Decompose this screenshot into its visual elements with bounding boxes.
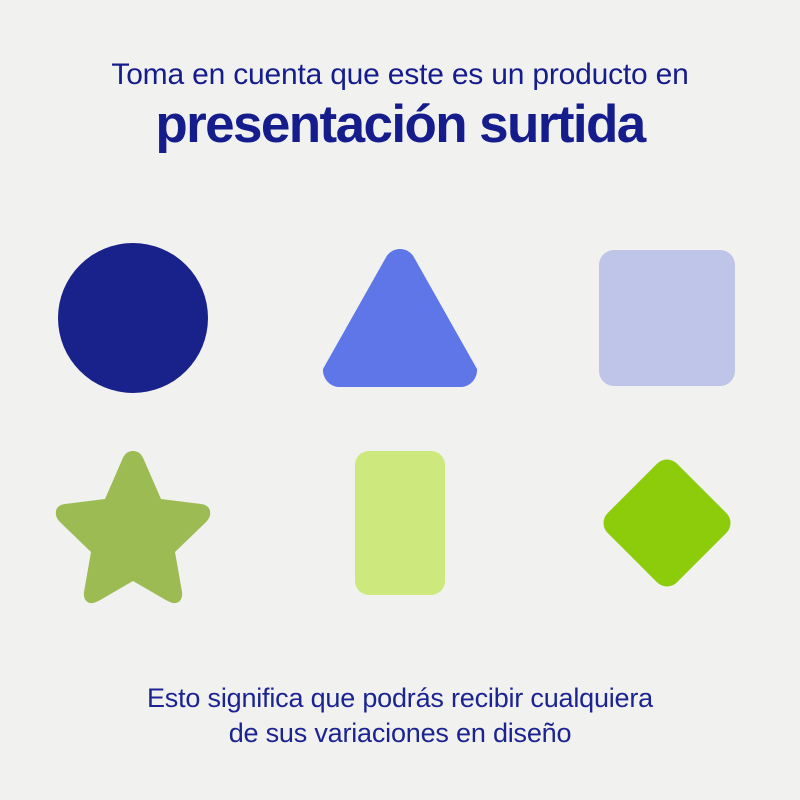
footer-caption: Esto significa que podrás recibir cualqu…: [0, 681, 800, 752]
shape-cell-diamond: [533, 420, 800, 625]
square-shape-icon: [599, 250, 735, 386]
headline-line-1: Toma en cuenta que este es un producto e…: [0, 58, 800, 92]
shape-cell-star: [0, 420, 267, 625]
diamond-shape-icon: [589, 445, 745, 601]
shapes-grid: [0, 215, 800, 625]
shape-cell-circle: [0, 215, 267, 420]
assorted-presentation-poster: Toma en cuenta que este es un producto e…: [0, 0, 800, 800]
footer-line-1: Esto significa que podrás recibir cualqu…: [0, 681, 800, 717]
shape-cell-square: [533, 215, 800, 420]
headline: Toma en cuenta que este es un producto e…: [0, 58, 800, 154]
headline-line-2: presentación surtida: [0, 96, 800, 154]
triangle-shape-icon: [317, 245, 483, 391]
circle-shape-icon: [58, 243, 208, 393]
rectangle-shape-icon: [355, 451, 445, 595]
shape-cell-rectangle: [267, 420, 534, 625]
footer-line-2: de sus variaciones en diseño: [0, 716, 800, 752]
shape-cell-triangle: [267, 215, 534, 420]
star-shape-icon: [53, 447, 213, 599]
